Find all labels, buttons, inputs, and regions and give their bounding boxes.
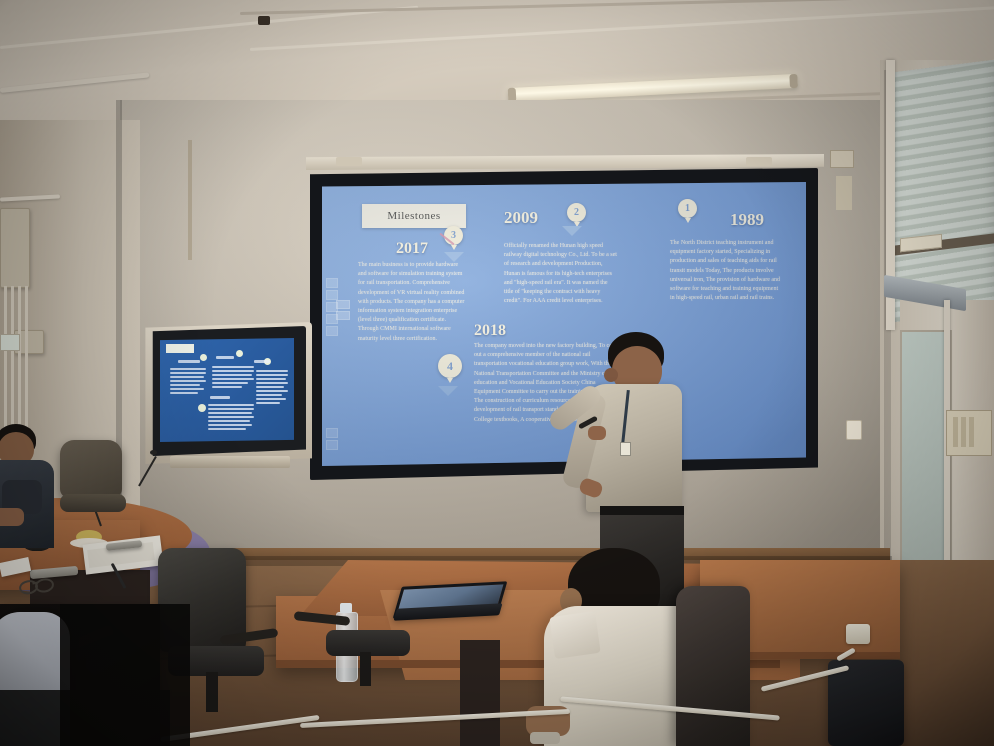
monitor-wall-mount [188, 140, 192, 260]
wall-outlet[interactable] [0, 334, 20, 351]
milestone-column-2009: 2009 Officially renamed the Hunan high s… [504, 208, 618, 306]
conference-room-photo: Milestones 2017 The main busine [0, 0, 994, 746]
milestone-column-1989: 1989 The North District teaching instrum… [670, 210, 782, 303]
annotation-toolbar-bottom[interactable] [326, 428, 338, 452]
annotation-toolbar-secondary[interactable] [336, 300, 348, 322]
id-card [620, 442, 631, 456]
shirt-collar [549, 611, 600, 659]
milestone-badge-4: 4 [438, 354, 462, 378]
milestone-arrow [444, 252, 464, 262]
electrical-junction-box [0, 208, 30, 288]
milestone-badge-2: 2 [567, 203, 586, 222]
wall-speaker-mount [830, 150, 854, 168]
wall-bracket [836, 176, 852, 210]
tool-button[interactable] [326, 428, 338, 438]
badge-number: 4 [447, 359, 453, 374]
projection-screen: Milestones 2017 The main busine [310, 168, 818, 480]
monitor-screen [160, 338, 294, 442]
wrist-cuff [530, 732, 560, 744]
tool-button[interactable] [336, 311, 350, 320]
presenter-ear [604, 368, 618, 382]
tool-button[interactable] [326, 278, 338, 288]
black-bag-on-floor[interactable] [828, 660, 904, 746]
milestone-text: The North District teaching instrument a… [670, 239, 782, 303]
badge-number: 1 [685, 203, 690, 214]
wall-outlet[interactable] [846, 420, 862, 440]
ceiling-fixture-bolt [258, 16, 270, 25]
belt [600, 506, 684, 515]
milestone-arrow [562, 226, 582, 236]
table-leg [460, 640, 500, 746]
presenter-hand-right [588, 426, 606, 440]
milestone-arrow [438, 386, 458, 396]
badge-number: 2 [574, 207, 579, 218]
milestone-text: Officially renamed the Hunan high speed … [504, 242, 618, 306]
milestone-badge-1: 1 [678, 199, 697, 218]
badge-number: 3 [451, 230, 456, 241]
wall-mounted-monitor [148, 326, 306, 456]
wall-control-panel[interactable] [946, 410, 992, 456]
milestone-text: The main business is to provide hardware… [358, 261, 466, 344]
tool-button[interactable] [326, 326, 338, 336]
slide-title-box: Milestones [362, 204, 466, 228]
tool-button[interactable] [336, 300, 350, 309]
tool-button[interactable] [326, 290, 338, 300]
attendee-hands [0, 508, 24, 526]
foreground-shadow [60, 604, 190, 746]
milestone-year: 2009 [504, 208, 618, 228]
tool-button[interactable] [326, 440, 338, 450]
slide-title-text: Milestones [387, 210, 440, 222]
annotation-toolbar[interactable] [326, 278, 336, 336]
power-plug[interactable] [846, 624, 870, 644]
leather-chair-back[interactable] [676, 586, 750, 746]
monitor-base [170, 456, 290, 468]
milestone-year: 2018 [474, 322, 622, 340]
